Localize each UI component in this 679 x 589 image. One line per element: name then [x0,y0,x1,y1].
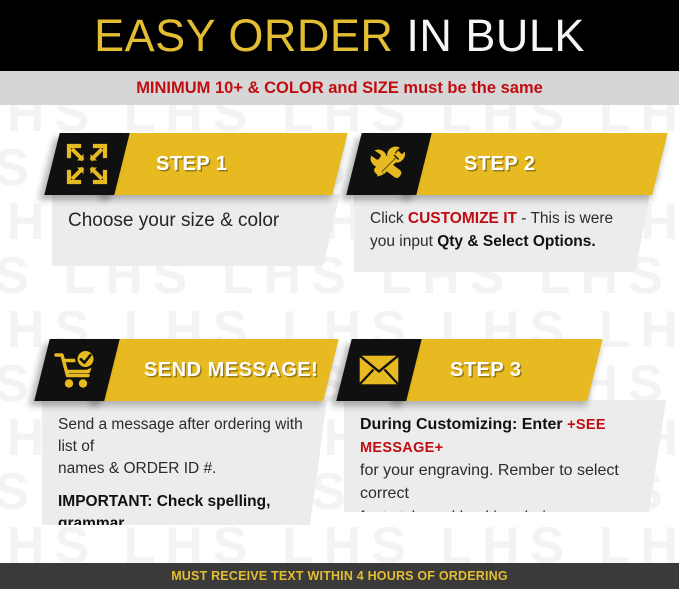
card-body-line: for your engraving. Rember to select cor… [360,460,648,505]
card-body-line: IMPORTANT: Check spelling, grammar [58,491,309,535]
subheader-banner: MINIMUM 10+ & COLOR and SIZE must be the… [0,71,679,105]
card-body-line: Choose your size & color [68,208,322,235]
card-body-line: Send a message after ordering with list … [58,414,309,458]
text-run: Click [370,210,408,227]
subheader-text: MINIMUM 10+ & COLOR and SIZE must be the… [136,80,543,97]
card-header-step2: STEP 2 [354,133,654,195]
card-body-step3: During Customizing: Enter +SEE MESSAGE+f… [344,400,666,512]
wrench-pencil-icon [354,133,424,195]
card-label-step3: STEP 3 [450,360,522,380]
card-body-line: During Customizing: Enter +SEE MESSAGE+ [360,414,648,459]
text-run: font style and backing during customizin… [360,509,564,549]
step-card-step1: STEP 1 Choose your size & color [52,133,344,266]
card-body-line: font style and backing during customizin… [360,507,648,552]
card-header-step1: STEP 1 [52,133,344,195]
card-body-step2: Click CUSTOMIZE IT - This is wereyou inp… [354,194,650,272]
card-icon-plate-step2 [346,133,431,195]
card-label-plate-step2: STEP 2 [402,133,667,195]
card-label-wrap-step3: STEP 3 [400,339,595,401]
footer-banner: MUST RECEIVE TEXT WITHIN 4 HOURS OF ORDE… [0,563,679,589]
text-run: you input [370,233,437,250]
card-icon-plate-send [34,339,119,401]
step-card-step2: STEP 2 Click CUSTOMIZE IT - This is were… [354,133,654,272]
text-run: names & ORDER ID #. [58,460,217,477]
card-body-text-step1: Choose your size & color [52,194,340,249]
text-run: During Customizing: Enter [360,416,567,433]
page-title-white: IN BULK [393,10,585,61]
card-body-text-step3: During Customizing: Enter +SEE MESSAGE+f… [344,400,666,566]
text-run: - This is were [517,210,613,227]
card-header-send: SEND MESSAGE! [42,339,334,401]
card-label-wrap-step1: STEP 1 [108,133,340,195]
page-title-gold: EASY ORDER [94,10,393,61]
card-body-send: Send a message after ordering with list … [42,400,327,525]
card-body-step1: Choose your size & color [52,194,340,266]
text-run: color/size [58,537,130,554]
step-card-send: SEND MESSAGE! Send a message after order… [42,339,334,525]
card-label-plate-step1: STEP 1 [100,133,347,195]
text-run: for your engraving. Rember to select cor… [360,462,619,502]
card-label-send: SEND MESSAGE! [144,360,318,380]
card-icon-plate-step3 [336,339,421,401]
card-label-plate-send: SEND MESSAGE! [90,339,338,401]
card-label-step1: STEP 1 [156,154,228,174]
text-run: Send a message after ordering with list … [58,416,303,455]
card-body-line: you input Qty & Select Options. [370,231,632,253]
card-body-line: Click CUSTOMIZE IT - This is were [370,208,632,230]
text-run: CUSTOMIZE IT [408,210,517,227]
card-body-text-step2: Click CUSTOMIZE IT - This is wereyou inp… [354,194,650,267]
text-run: IMPORTANT: Check spelling, grammar [58,493,270,532]
expand-arrows-icon [52,133,122,195]
footer-text: MUST RECEIVE TEXT WITHIN 4 HOURS OF ORDE… [171,570,508,583]
promo-infographic: LHS LHS LHS LHS LHS LHS LHS LHSLHS LHS L… [0,0,679,589]
card-body-text-send: Send a message after ordering with list … [42,400,327,589]
card-label-wrap-step2: STEP 2 [410,133,660,195]
card-body-line: names & ORDER ID #. [58,458,309,480]
text-run: Choose your size & color [68,210,279,231]
card-icon-plate-step1 [44,133,129,195]
header-banner: EASY ORDER IN BULK [0,0,679,71]
card-label-plate-step3: STEP 3 [392,339,602,401]
envelope-icon [344,339,414,401]
text-run: Qty & Select Options. [437,233,595,250]
cart-check-icon [42,339,112,401]
card-label-step2: STEP 2 [464,154,536,174]
page-title: EASY ORDER IN BULK [94,13,585,58]
card-header-step3: STEP 3 [344,339,668,401]
step-card-step3: STEP 3 During Customizing: Enter +SEE ME… [344,339,668,512]
card-label-wrap-send: SEND MESSAGE! [98,339,331,401]
